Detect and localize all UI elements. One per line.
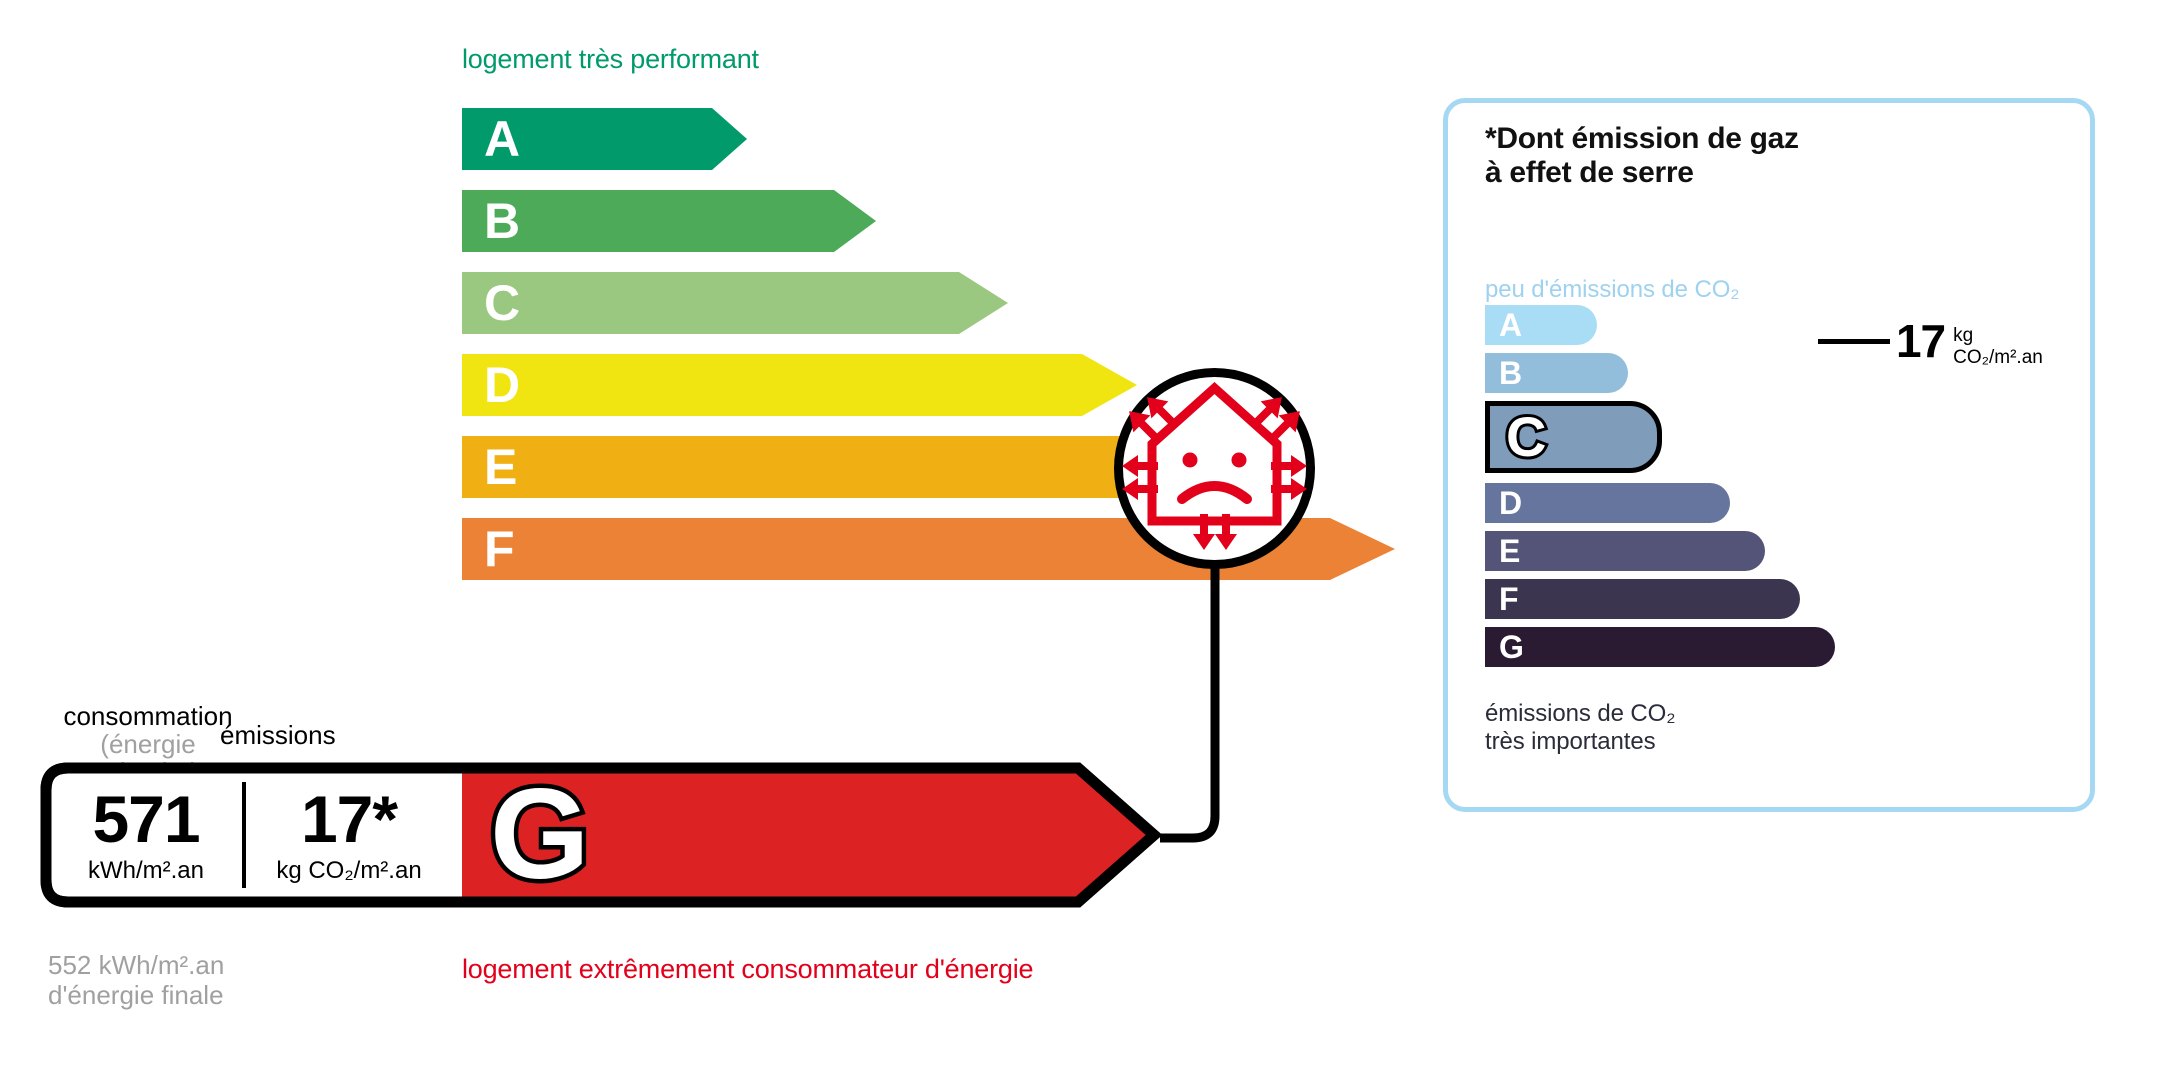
selected-energy-class-row: G 571 kWh/m².an 17* kg CO₂/m².an [38,760,1162,910]
energy-bar-c: C [462,272,1008,334]
ghg-panel-title-line2: à effet de serre [1485,156,1799,190]
ghg-bar-c-letter: C [1506,409,1546,465]
energy-bar-b-tip [834,190,876,252]
co2-value-cell: 17* kg CO₂/m².an [254,760,444,910]
ghg-panel-title: *Dont émission de gaz à effet de serre [1485,122,1799,189]
ghg-bar-b: B [1485,353,1628,393]
final-energy-note-line1: 552 kWh/m².an [48,950,224,980]
ghg-value-unit: kg CO₂/m².an [1953,325,2065,369]
ghg-bar-a-letter: A [1499,309,1522,341]
ghg-scale-bottom-caption-line1: émissions de CO₂ [1485,700,1675,728]
ghg-bar-a: A [1485,305,1597,345]
ghg-bar-d: D [1485,483,1730,523]
energy-bar-f-letter: F [484,524,515,574]
selected-energy-class-letter: G [490,771,590,899]
energy-bar-d-letter: D [484,360,520,410]
ghg-scale-top-caption: peu d'émissions de CO₂ [1485,276,1740,304]
energy-bar-d: D [462,354,1137,416]
energy-bar-b: B [462,190,876,252]
sad-house-heat-loss-icon [1112,366,1317,571]
final-energy-note: 552 kWh/m².an d'énergie finale [48,950,224,1010]
ghg-emissions-scale: A B C 17 kg CO₂/m².an D E F G [1485,305,2065,695]
energy-bar-f-tip [1330,518,1395,580]
emissions-header: émissions [220,720,336,751]
energy-bar-d-body [462,354,1082,416]
ghg-scale-bottom-caption: émissions de CO₂ très importantes [1485,700,1675,756]
final-energy-note-line2: d'énergie finale [48,980,224,1010]
energy-bar-e-body [462,436,1207,498]
ghg-bar-e: E [1485,531,1765,571]
ghg-value-callout: 17 kg CO₂/m².an [1818,305,2065,377]
ghg-value: 17 [1896,318,1945,364]
energy-bar-a: A [462,108,747,170]
co2-unit: kg CO₂/m².an [276,858,421,884]
energy-bar-b-letter: B [484,196,520,246]
ghg-bar-f-letter: F [1499,583,1519,615]
energy-bar-c-body [462,272,959,334]
ghg-bar-g-letter: G [1499,631,1524,663]
energy-bar-e-letter: E [484,442,517,492]
energy-bar-c-tip [959,272,1008,334]
energy-scale-bottom-caption: logement extrêmement consommateur d'éner… [462,954,1033,985]
consumption-header-line1: consommation [48,702,248,730]
ghg-bar-d-letter: D [1499,487,1522,519]
ghg-bar-c-selected: C [1485,401,1662,473]
energy-bar-c-letter: C [484,278,520,328]
ghg-bar-e-letter: E [1499,535,1520,567]
ghg-bar-g: G [1485,627,1835,667]
primary-energy-value-cell: 571 kWh/m².an [56,760,236,910]
energy-consumption-scale: A B C D E F [0,0,1250,800]
value-cells-divider [242,782,246,888]
primary-energy-unit: kWh/m².an [88,858,204,884]
primary-energy-value: 571 [92,786,199,852]
ghg-scale-bottom-caption-line2: très importantes [1485,728,1675,756]
ghg-bar-b-letter: B [1499,357,1522,389]
co2-value: 17* [301,786,397,852]
ghg-panel-title-line1: *Dont émission de gaz [1485,122,1799,156]
energy-bar-a-letter: A [484,114,520,164]
energy-bar-a-tip [712,108,747,170]
ghg-bar-f: F [1485,579,1800,619]
ghg-value-leader-line [1818,339,1890,344]
